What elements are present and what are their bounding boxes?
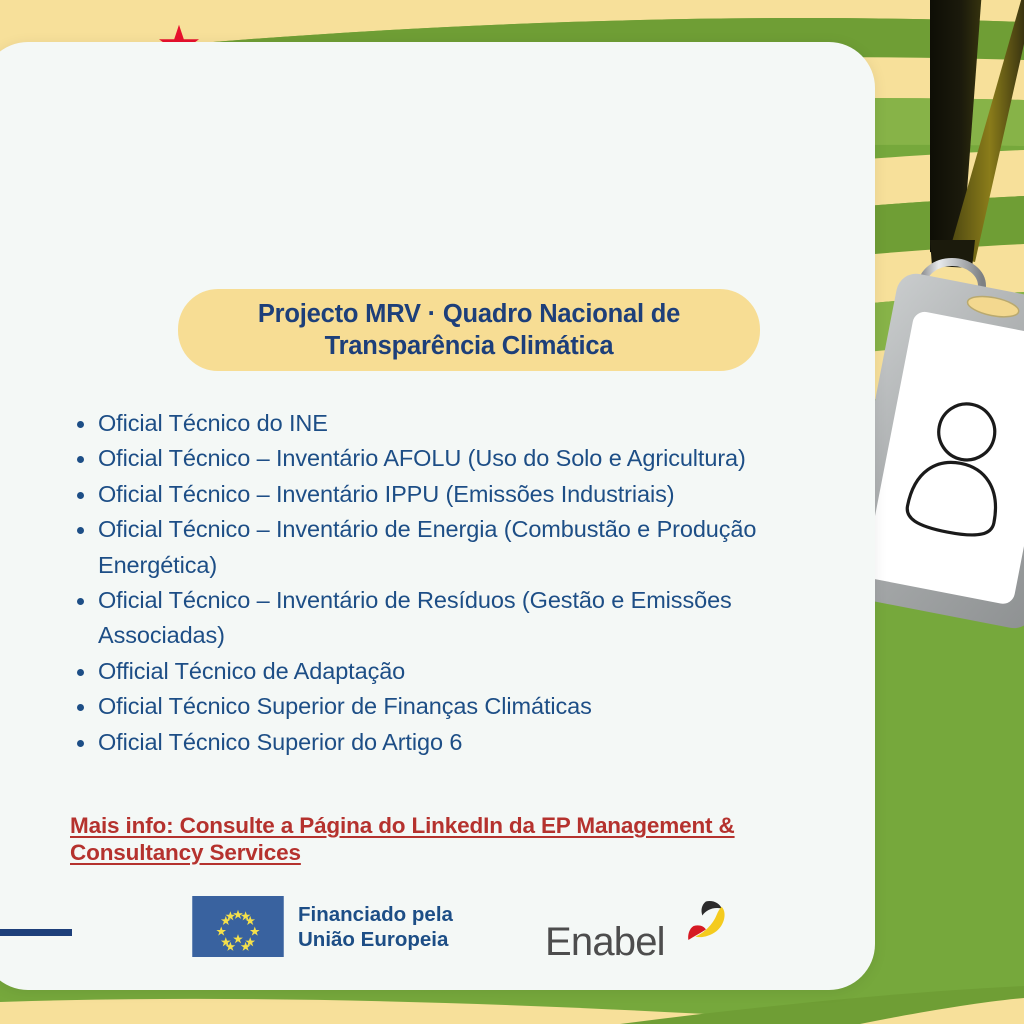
eu-funding-line1: Financiado pela	[298, 902, 453, 927]
eu-funding-text: Financiado pela União Europeia	[298, 902, 453, 952]
list-item: Oficial Técnico – Inventário de Energia …	[70, 512, 800, 583]
list-item: Oficial Técnico – Inventário IPPU (Emiss…	[70, 477, 800, 512]
project-banner-text: Projecto MRV · Quadro Nacional de Transp…	[258, 298, 680, 362]
list-item: Oficial Técnico Superior do Artigo 6	[70, 725, 800, 760]
european-union-flag-icon	[192, 896, 284, 957]
enabel-bird-mark-icon	[667, 898, 729, 954]
enabel-logo: Enabel	[545, 898, 729, 964]
more-info-link[interactable]: Mais info: Consulte a Página do LinkedIn…	[70, 812, 850, 866]
list-item: Oficial Técnico – Inventário AFOLU (Uso …	[70, 441, 800, 476]
project-banner-line2: Transparência Climática	[325, 332, 614, 360]
enabel-wordmark: Enabel	[545, 920, 665, 964]
project-banner: Projecto MRV · Quadro Nacional de Transp…	[178, 289, 760, 371]
accent-bar	[0, 929, 72, 936]
list-item: Oficial Técnico Superior de Finanças Cli…	[70, 689, 800, 724]
list-item: Official Técnico de Adaptação	[70, 654, 800, 689]
project-banner-line1: Projecto MRV · Quadro Nacional de	[258, 300, 680, 328]
eu-funding-logo: Financiado pela União Europeia	[192, 896, 453, 957]
role-list: Oficial Técnico do INE Oficial Técnico –…	[70, 406, 800, 760]
list-item: Oficial Técnico do INE	[70, 406, 800, 441]
poster-canvas: REPÚBLICA DE MOÇAMBIQUE MINISTÉRIO DA AG…	[0, 0, 1024, 1024]
list-item: Oficial Técnico – Inventário de Resíduos…	[70, 583, 800, 654]
eu-funding-line2: União Europeia	[298, 927, 453, 952]
footer-logos: Financiado pela União Europeia Enabel	[0, 888, 875, 978]
